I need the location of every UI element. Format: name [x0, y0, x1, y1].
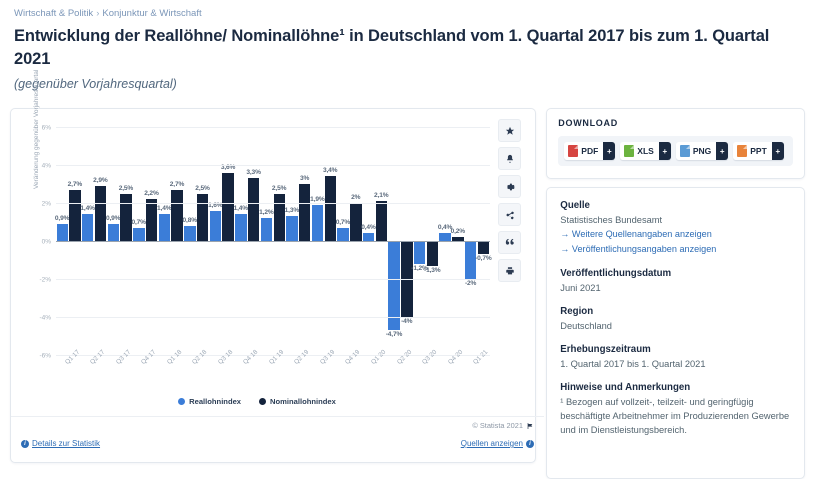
page-header: Wirtschaft & Politik›Konjunktur & Wirtsc… [0, 0, 815, 93]
survey-period-section: Erhebungszeitraum 1. Quartal 2017 bis 1.… [560, 344, 791, 371]
bar-reallohnindex[interactable] [159, 214, 170, 241]
bar-nominallohnindex[interactable] [120, 194, 131, 242]
bar-nominallohnindex[interactable] [171, 190, 182, 241]
download-ppt-label: PPT [750, 146, 767, 156]
bar-nominallohnindex[interactable] [248, 178, 259, 241]
download-ppt-expand[interactable]: + [772, 142, 784, 160]
info-icon-left: i [21, 440, 29, 448]
bar-value-label: 0,9% [55, 215, 69, 222]
sources-link[interactable]: Quellen anzeigen i [461, 439, 534, 448]
source-section: Quelle Statistisches Bundesamt → Weitere… [560, 200, 791, 257]
plot-region: 0,9%2,7%1,4%2,9%0,9%2,5%0,7%2,2%1,4%2,7%… [56, 127, 490, 355]
gridline-6: 6% [56, 127, 490, 128]
bar-value-label: 0,9% [106, 215, 120, 222]
bar-value-label: 2,9% [93, 177, 107, 184]
bar-nominallohnindex[interactable] [146, 199, 157, 241]
download-png-label: PNG [693, 146, 711, 156]
gridline--4: -4% [56, 317, 490, 318]
page-title: Entwicklung der Reallöhne/ Nominallöhne¹… [14, 25, 801, 71]
chart-footer-links: i Details zur Statistik Quellen anzeigen… [11, 439, 544, 448]
gridline-2: 2% [56, 203, 490, 204]
download-heading: DOWNLOAD [558, 118, 793, 128]
bar-value-label: 2,5% [272, 185, 286, 192]
download-pdf-label: PDF [581, 146, 598, 156]
details-link-label: Details zur Statistik [32, 439, 100, 448]
download-xls-label: XLS [637, 146, 654, 156]
page-subtitle: (gegenüber Vorjahresquartal) [14, 76, 801, 93]
bar-value-label: -4% [401, 318, 412, 325]
chart-action-rail [498, 119, 521, 282]
publication-date-heading: Veröffentlichungsdatum [560, 268, 791, 279]
pdf-file-icon [568, 145, 578, 157]
copyright-text: © Statista 2021 [472, 421, 523, 430]
bar-value-label: -0,7% [475, 255, 491, 262]
ppt-file-icon [737, 145, 747, 157]
publication-date-value: Juni 2021 [560, 281, 791, 295]
download-png-expand[interactable]: + [716, 142, 728, 160]
y-tick-label: -2% [39, 277, 51, 284]
y-tick-label: 6% [42, 125, 51, 132]
xls-file-icon [624, 145, 634, 157]
breadcrumb-item-0[interactable]: Wirtschaft & Politik [14, 8, 93, 19]
png-file-icon [680, 145, 690, 157]
bar-value-label: 1,4% [157, 205, 171, 212]
download-ppt-button[interactable]: PPT+ [733, 142, 784, 160]
chart-area: Veränderung gegenüber Vorjahresquartal 0… [11, 109, 503, 424]
bar-value-label: -2% [465, 280, 476, 287]
legend-item-nominallohnindex[interactable]: Nominallohnindex [259, 397, 336, 406]
legend-label-reallohnindex: Reallohnindex [189, 397, 241, 406]
bar-value-label: 3,3% [246, 169, 260, 176]
bar-value-label: 0,8% [183, 217, 197, 224]
y-tick-label: 0% [42, 239, 51, 246]
share-icon[interactable] [498, 203, 521, 226]
source-value: Statistisches Bundesamt [560, 213, 791, 227]
chart-legend: Reallohnindex Nominallohnindex [11, 397, 503, 406]
chart-footer: © Statista 2021 i Details zur Statistik … [11, 416, 544, 462]
bar-reallohnindex[interactable] [108, 224, 119, 241]
bar-value-label: 2,7% [170, 181, 184, 188]
bar-reallohnindex[interactable] [184, 226, 195, 241]
source-heading: Quelle [560, 200, 791, 211]
more-sources-link[interactable]: → Weitere Quellenangaben anzeigen [560, 227, 791, 242]
bar-value-label: 2,1% [374, 192, 388, 199]
bar-reallohnindex[interactable] [363, 233, 374, 241]
notes-heading: Hinweise und Anmerkungen [560, 382, 791, 393]
bar-nominallohnindex[interactable] [95, 186, 106, 241]
gridline-4: 4% [56, 165, 490, 166]
print-icon[interactable] [498, 259, 521, 282]
publication-date-section: Veröffentlichungsdatum Juni 2021 [560, 268, 791, 295]
bar-value-label: 1,9% [310, 196, 324, 203]
bar-value-label: 1,4% [80, 205, 94, 212]
region-value: Deutschland [560, 319, 791, 333]
legend-item-reallohnindex[interactable]: Reallohnindex [178, 397, 241, 406]
legend-swatch-nominallohnindex [259, 398, 266, 405]
statista-chart-page: Wirtschaft & Politik›Konjunktur & Wirtsc… [0, 0, 815, 479]
publication-details-link[interactable]: → Veröffentlichungsangaben anzeigen [560, 242, 791, 257]
bar-value-label: 2,7% [68, 181, 82, 188]
legend-swatch-reallohnindex [178, 398, 185, 405]
bar-reallohnindex[interactable] [261, 218, 272, 241]
region-heading: Region [560, 306, 791, 317]
bar-nominallohnindex[interactable] [222, 173, 233, 241]
bar-nominallohnindex[interactable] [478, 241, 489, 254]
bar-value-label: 0,4% [361, 224, 375, 231]
y-tick-label: 4% [42, 163, 51, 170]
bar-value-label: 0,7% [336, 219, 350, 226]
bar-reallohnindex[interactable] [312, 205, 323, 241]
bar-reallohnindex[interactable] [414, 241, 425, 264]
y-tick-label: -4% [39, 315, 51, 322]
flag-icon [526, 422, 534, 430]
bar-value-label: 2,5% [195, 185, 209, 192]
y-tick-label: 2% [42, 201, 51, 208]
breadcrumb: Wirtschaft & Politik›Konjunktur & Wirtsc… [14, 7, 801, 21]
breadcrumb-item-1[interactable]: Konjunktur & Wirtschaft [102, 8, 201, 19]
info-icon-right: i [526, 440, 534, 448]
sources-link-label: Quellen anzeigen [461, 439, 523, 448]
bell-icon[interactable] [498, 147, 521, 170]
sidebar: DOWNLOAD PDF+XLS+PNG+PPT+ Quelle Statist… [546, 108, 805, 479]
survey-period-value: 1. Quartal 2017 bis 1. Quartal 2021 [560, 357, 791, 371]
bar-value-label: 2% [351, 194, 360, 201]
download-pdf-expand[interactable]: + [603, 142, 615, 160]
gridline-0: 0% [56, 241, 490, 242]
legend-label-nominallohnindex: Nominallohnindex [270, 397, 336, 406]
download-pdf-button[interactable]: PDF+ [564, 142, 615, 160]
bar-nominallohnindex[interactable] [427, 241, 438, 266]
star-icon[interactable] [498, 119, 521, 142]
bar-value-label: 2,5% [119, 185, 133, 192]
bar-value-label: 1,2% [259, 209, 273, 216]
chart-card: Veränderung gegenüber Vorjahresquartal 0… [10, 108, 536, 463]
bar-nominallohnindex[interactable] [325, 176, 336, 241]
gridline--2: -2% [56, 279, 490, 280]
metadata-card: Quelle Statistisches Bundesamt → Weitere… [546, 187, 805, 479]
bar-nominallohnindex[interactable] [69, 190, 80, 241]
download-card: DOWNLOAD PDF+XLS+PNG+PPT+ [546, 108, 805, 179]
download-xls-expand[interactable]: + [659, 142, 671, 160]
y-axis-label: Veränderung gegenüber Vorjahresquartal [33, 19, 40, 189]
bar-nominallohnindex[interactable] [197, 194, 208, 242]
breadcrumb-separator: › [96, 8, 99, 19]
bar-reallohnindex[interactable] [235, 214, 246, 241]
bar-nominallohnindex[interactable] [299, 184, 310, 241]
copyright-notice: © Statista 2021 [472, 421, 534, 430]
body-wrapper: Veränderung gegenüber Vorjahresquartal 0… [0, 108, 815, 479]
download-button-strip: PDF+XLS+PNG+PPT+ [558, 136, 793, 166]
bar-value-label: 3,4% [323, 167, 337, 174]
bar-reallohnindex[interactable] [57, 224, 68, 241]
gear-icon[interactable] [498, 175, 521, 198]
bar-nominallohnindex[interactable] [376, 201, 387, 241]
bar-value-label: 3% [300, 175, 309, 182]
bar-nominallohnindex[interactable] [350, 203, 361, 241]
bar-reallohnindex[interactable] [337, 228, 348, 241]
notes-value: ¹ Bezogen auf vollzeit-, teilzeit- und g… [560, 395, 791, 437]
y-tick-label: -6% [39, 353, 51, 360]
bar-value-label: 0,7% [131, 219, 145, 226]
notes-section: Hinweise und Anmerkungen ¹ Bezogen auf v… [560, 382, 791, 437]
bar-value-label: -4,7% [386, 331, 402, 338]
bar-reallohnindex[interactable] [133, 228, 144, 241]
bar-value-label: 2,2% [144, 190, 158, 197]
bar-reallohnindex[interactable] [286, 216, 297, 241]
survey-period-heading: Erhebungszeitraum [560, 344, 791, 355]
bar-reallohnindex[interactable] [82, 214, 93, 241]
download-xls-button[interactable]: XLS+ [620, 142, 671, 160]
quote-icon[interactable] [498, 231, 521, 254]
bar-nominallohnindex[interactable] [274, 194, 285, 242]
bar-value-label: 0,2% [451, 228, 465, 235]
bar-value-label: 1,3% [285, 207, 299, 214]
bar-value-label: 1,4% [234, 205, 248, 212]
download-png-button[interactable]: PNG+ [676, 142, 728, 160]
bar-reallohnindex[interactable] [439, 233, 450, 241]
region-section: Region Deutschland [560, 306, 791, 333]
details-link[interactable]: i Details zur Statistik [21, 439, 100, 448]
bar-reallohnindex[interactable] [210, 211, 221, 241]
